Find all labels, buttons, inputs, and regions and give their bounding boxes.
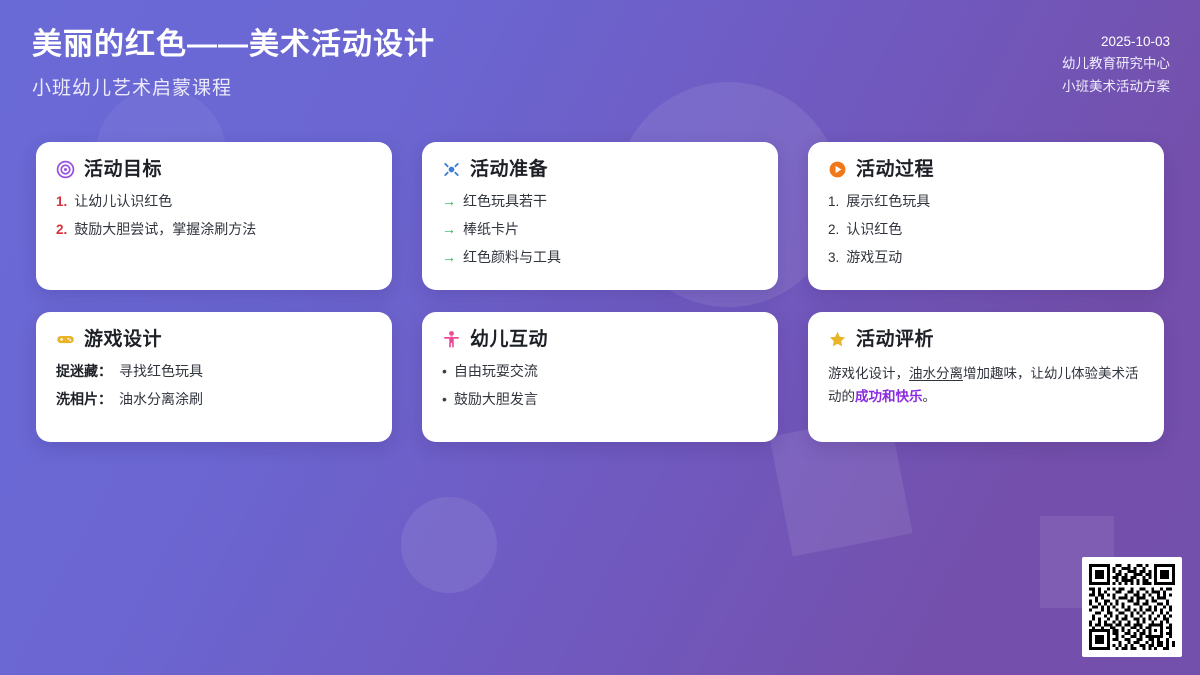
list-text: 红色玩具若干 xyxy=(463,192,547,211)
card-activity-review[interactable]: 活动评析 游戏化设计，油水分离增加趣味，让幼儿体验美术活动的成功和快乐。 xyxy=(808,312,1164,442)
card-activity-process[interactable]: 活动过程 1. 展示红色玩具 2. 认识红色 3. 游戏互动 xyxy=(808,142,1164,290)
list-item: 2. 认识红色 xyxy=(828,220,1144,239)
paragraph-underlined-term: 油水分离 xyxy=(909,366,963,381)
list-text: 让幼儿认识红色 xyxy=(74,192,172,211)
list-item: • 自由玩耍交流 xyxy=(442,362,758,381)
header-organization: 幼儿教育研究中心 xyxy=(1062,53,1170,75)
arrow-marker-icon: → xyxy=(442,192,456,211)
child-icon xyxy=(442,330,461,349)
paragraph-part-3: 。 xyxy=(923,389,937,404)
header-document-type: 小班美术活动方案 xyxy=(1062,76,1170,98)
page-title: 美丽的红色——美术活动设计 xyxy=(32,26,435,64)
slide-canvas: 美丽的红色——美术活动设计 小班幼儿艺术启蒙课程 2025-10-03 幼儿教育… xyxy=(0,0,1200,675)
list-item: → 棒纸卡片 xyxy=(442,220,758,239)
arrow-marker-icon: → xyxy=(442,248,456,267)
tools-icon xyxy=(442,160,461,179)
card-title: 游戏设计 xyxy=(84,330,162,349)
list-text: 鼓励大胆尝试，掌握涂刷方法 xyxy=(74,220,256,239)
list-item: 捉迷藏： 寻找红色玩具 xyxy=(56,362,372,381)
list-item: 3. 游戏互动 xyxy=(828,248,1144,267)
term-description: 油水分离涂刷 xyxy=(119,390,203,409)
page-subtitle: 小班幼儿艺术启蒙课程 xyxy=(32,73,435,100)
card-title: 活动评析 xyxy=(856,330,934,349)
bullet-marker-icon: • xyxy=(442,364,447,378)
card-title: 活动过程 xyxy=(856,160,934,179)
card-header: 幼儿互动 xyxy=(442,330,758,349)
list-item: 1. 让幼儿认识红色 xyxy=(56,192,372,211)
list-text: 鼓励大胆发言 xyxy=(454,390,538,409)
list-text: 游戏互动 xyxy=(846,248,902,267)
card-title: 活动准备 xyxy=(470,160,548,179)
paragraph-part-1: 游戏化设计， xyxy=(828,366,909,381)
target-icon xyxy=(56,160,75,179)
card-title: 幼儿互动 xyxy=(470,330,548,349)
list-marker: 2. xyxy=(828,221,839,239)
decorative-circle-medium xyxy=(401,497,497,593)
gamepad-icon xyxy=(56,330,75,349)
term-label: 捉迷藏： xyxy=(56,362,112,381)
list-text: 认识红色 xyxy=(846,220,902,239)
card-activity-preparation[interactable]: 活动准备 → 红色玩具若干 → 棒纸卡片 → 红色颜料与工具 xyxy=(422,142,778,290)
list-item: → 红色玩具若干 xyxy=(442,192,758,211)
qr-code[interactable] xyxy=(1082,557,1182,657)
card-header: 活动评析 xyxy=(828,330,1144,349)
arrow-marker-icon: → xyxy=(442,220,456,239)
card-header: 活动过程 xyxy=(828,160,1144,179)
card-children-interaction[interactable]: 幼儿互动 • 自由玩耍交流 • 鼓励大胆发言 xyxy=(422,312,778,442)
list-marker: 1. xyxy=(828,193,839,211)
paragraph-highlight: 成功和快乐 xyxy=(855,389,923,404)
card-title: 活动目标 xyxy=(84,160,162,179)
list-item: 2. 鼓励大胆尝试，掌握涂刷方法 xyxy=(56,220,372,239)
header-left-block: 美丽的红色——美术活动设计 小班幼儿艺术启蒙课程 xyxy=(32,26,435,100)
card-header: 游戏设计 xyxy=(56,330,372,349)
bullet-marker-icon: • xyxy=(442,392,447,406)
card-activity-goals[interactable]: 活动目标 1. 让幼儿认识红色 2. 鼓励大胆尝试，掌握涂刷方法 xyxy=(36,142,392,290)
list-text: 自由玩耍交流 xyxy=(454,362,538,381)
list-marker: 3. xyxy=(828,249,839,267)
qr-code-image xyxy=(1089,564,1175,650)
review-paragraph: 游戏化设计，油水分离增加趣味，让幼儿体验美术活动的成功和快乐。 xyxy=(828,362,1144,408)
term-label: 洗相片： xyxy=(56,390,112,409)
card-header: 活动目标 xyxy=(56,160,372,179)
header-meta-block: 2025-10-03 幼儿教育研究中心 小班美术活动方案 xyxy=(1062,31,1170,98)
list-marker: 2. xyxy=(56,221,67,239)
list-item: 1. 展示红色玩具 xyxy=(828,192,1144,211)
list-text: 展示红色玩具 xyxy=(846,192,930,211)
list-item: 洗相片： 油水分离涂刷 xyxy=(56,390,372,409)
list-text: 红色颜料与工具 xyxy=(463,248,561,267)
header-date: 2025-10-03 xyxy=(1062,31,1170,53)
star-icon xyxy=(828,330,847,349)
play-icon xyxy=(828,160,847,179)
slide-header: 美丽的红色——美术活动设计 小班幼儿艺术启蒙课程 2025-10-03 幼儿教育… xyxy=(0,0,1200,130)
list-item: → 红色颜料与工具 xyxy=(442,248,758,267)
card-header: 活动准备 xyxy=(442,160,758,179)
list-item: • 鼓励大胆发言 xyxy=(442,390,758,409)
list-marker: 1. xyxy=(56,193,67,211)
list-text: 棒纸卡片 xyxy=(463,220,519,239)
term-description: 寻找红色玩具 xyxy=(119,362,203,381)
card-game-design[interactable]: 游戏设计 捉迷藏： 寻找红色玩具 洗相片： 油水分离涂刷 xyxy=(36,312,392,442)
card-grid: 活动目标 1. 让幼儿认识红色 2. 鼓励大胆尝试，掌握涂刷方法 xyxy=(36,142,1164,442)
